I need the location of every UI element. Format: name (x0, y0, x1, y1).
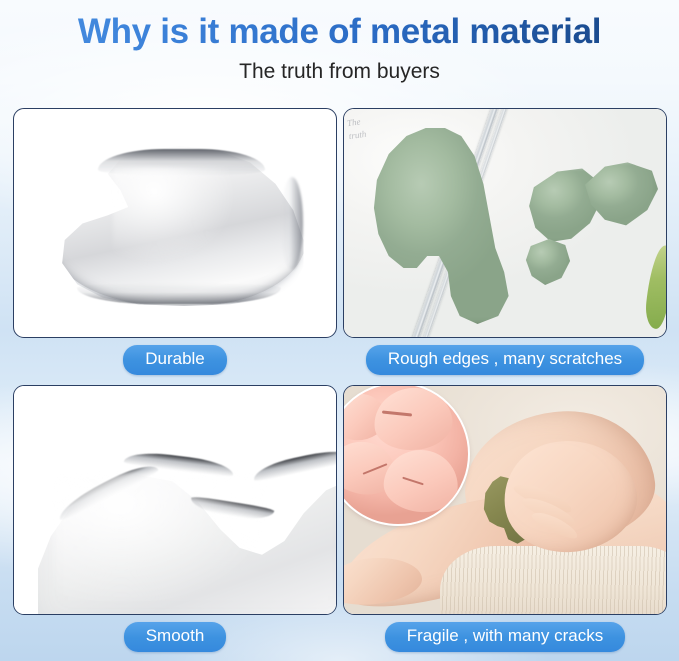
green-leaf (644, 244, 666, 330)
metal-rim-segment-4 (251, 445, 336, 482)
metal-specular-sheen (113, 167, 235, 263)
panel-metal-full: Durable (13, 108, 337, 375)
image-panel (343, 385, 667, 615)
badge-container: Rough edges , many scratches (343, 345, 667, 375)
jade-scene: The truth (344, 109, 666, 337)
jade-in-use-photo (344, 386, 666, 614)
status-badge-rough-edges: Rough edges , many scratches (366, 345, 644, 375)
paper-handwriting-note: The truth (346, 113, 382, 159)
metal-right-rim (281, 177, 304, 269)
jade-piece-wedge-2 (582, 161, 658, 231)
jade-piece-small (524, 237, 572, 287)
inset-knuckle-2 (371, 386, 455, 454)
metal-gua-sha-tool (52, 141, 306, 306)
metal-edge-macro-photo (14, 386, 336, 614)
badge-container: Durable (13, 345, 337, 375)
status-badge-durable: Durable (123, 345, 227, 375)
page-subtitle: The truth from buyers (0, 53, 679, 85)
broken-jade-photo: The truth (344, 109, 666, 337)
panel-jade-in-use: Fragile , with many cracks (343, 385, 667, 652)
cracked-stone-inset (344, 386, 470, 526)
panel-jade-broken: The truth Rough edges , many scratches (343, 108, 667, 375)
metal-macro-scene (14, 386, 336, 614)
panel-metal-macro: Smooth (13, 385, 337, 652)
metal-gua-sha-photo (14, 109, 336, 337)
inset-knuckle-4 (382, 447, 460, 514)
metal-edge-body (38, 426, 336, 614)
badge-container: Fragile , with many cracks (343, 622, 667, 652)
status-badge-smooth: Smooth (124, 622, 227, 652)
comparison-grid: Durable The truth (0, 108, 679, 661)
towel (440, 546, 666, 614)
image-panel (13, 108, 337, 338)
leg-massage-scene (344, 386, 666, 614)
metal-rim-segment-2 (123, 449, 234, 477)
image-panel: The truth (343, 108, 667, 338)
poster-header: Why is it made of metal material The tru… (0, 0, 679, 85)
status-badge-fragile: Fragile , with many cracks (385, 622, 626, 652)
badge-container: Smooth (13, 622, 337, 652)
infographic-poster: Why is it made of metal material The tru… (0, 0, 679, 661)
page-title: Why is it made of metal material (0, 0, 679, 53)
image-panel (13, 385, 337, 615)
metal-bottom-edge-highlight (77, 283, 280, 304)
